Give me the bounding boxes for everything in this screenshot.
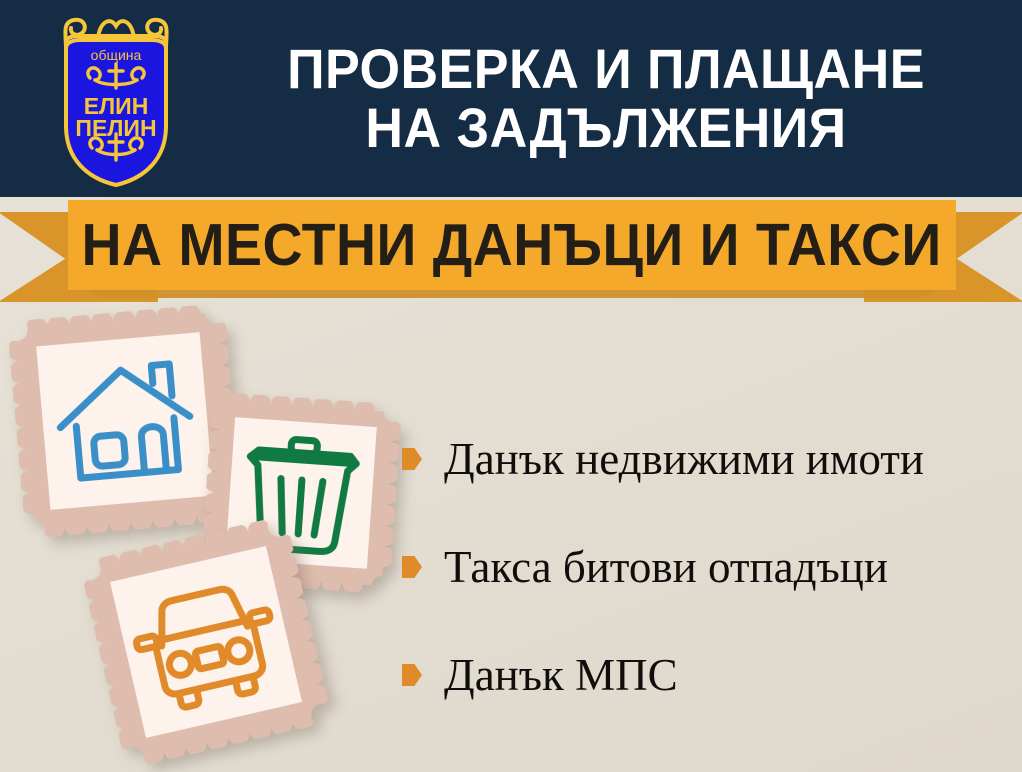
list-item-label: Данък МПС [444,653,678,698]
bullet-arrow-icon [402,664,422,686]
logo-text-pelin: ПЕЛИН [75,115,156,141]
tax-type-list: Данък недвижими имоти Такса битови отпад… [402,428,1017,706]
page-title: ПРОВЕРКА И ПЛАЩАНЕ НА ЗАДЪЛЖЕНИЯ [225,18,988,178]
list-item[interactable]: Данък МПС [402,644,1017,706]
ribbon-main-panel: НА МЕСТНИ ДАНЪЦИ И ТАКСИ [68,200,956,290]
ribbon-subtitle: НА МЕСТНИ ДАНЪЦИ И ТАКСИ [82,216,942,275]
header-bar: община ЕЛИН ПЕЛИН ПРОВЕРКА И ПЛАЩАНЕ НА … [0,0,1022,197]
page-title-line1: ПРОВЕРКА И ПЛАЩАНЕ [287,39,925,98]
bullet-arrow-icon [402,556,422,578]
list-item[interactable]: Данък недвижими имоти [402,428,1017,490]
municipality-logo: община ЕЛИН ПЕЛИН [40,8,192,190]
poster-canvas: община ЕЛИН ПЕЛИН ПРОВЕРКА И ПЛАЩАНЕ НА … [0,0,1022,772]
logo-text-obshtina: община [91,47,142,63]
list-item-label: Такса битови отпадъци [444,545,888,590]
page-title-line2: НА ЗАДЪЛЖЕНИЯ [365,98,846,157]
list-item-label: Данък недвижими имоти [444,437,924,482]
bullet-arrow-icon [402,448,422,470]
list-item[interactable]: Такса битови отпадъци [402,536,1017,598]
